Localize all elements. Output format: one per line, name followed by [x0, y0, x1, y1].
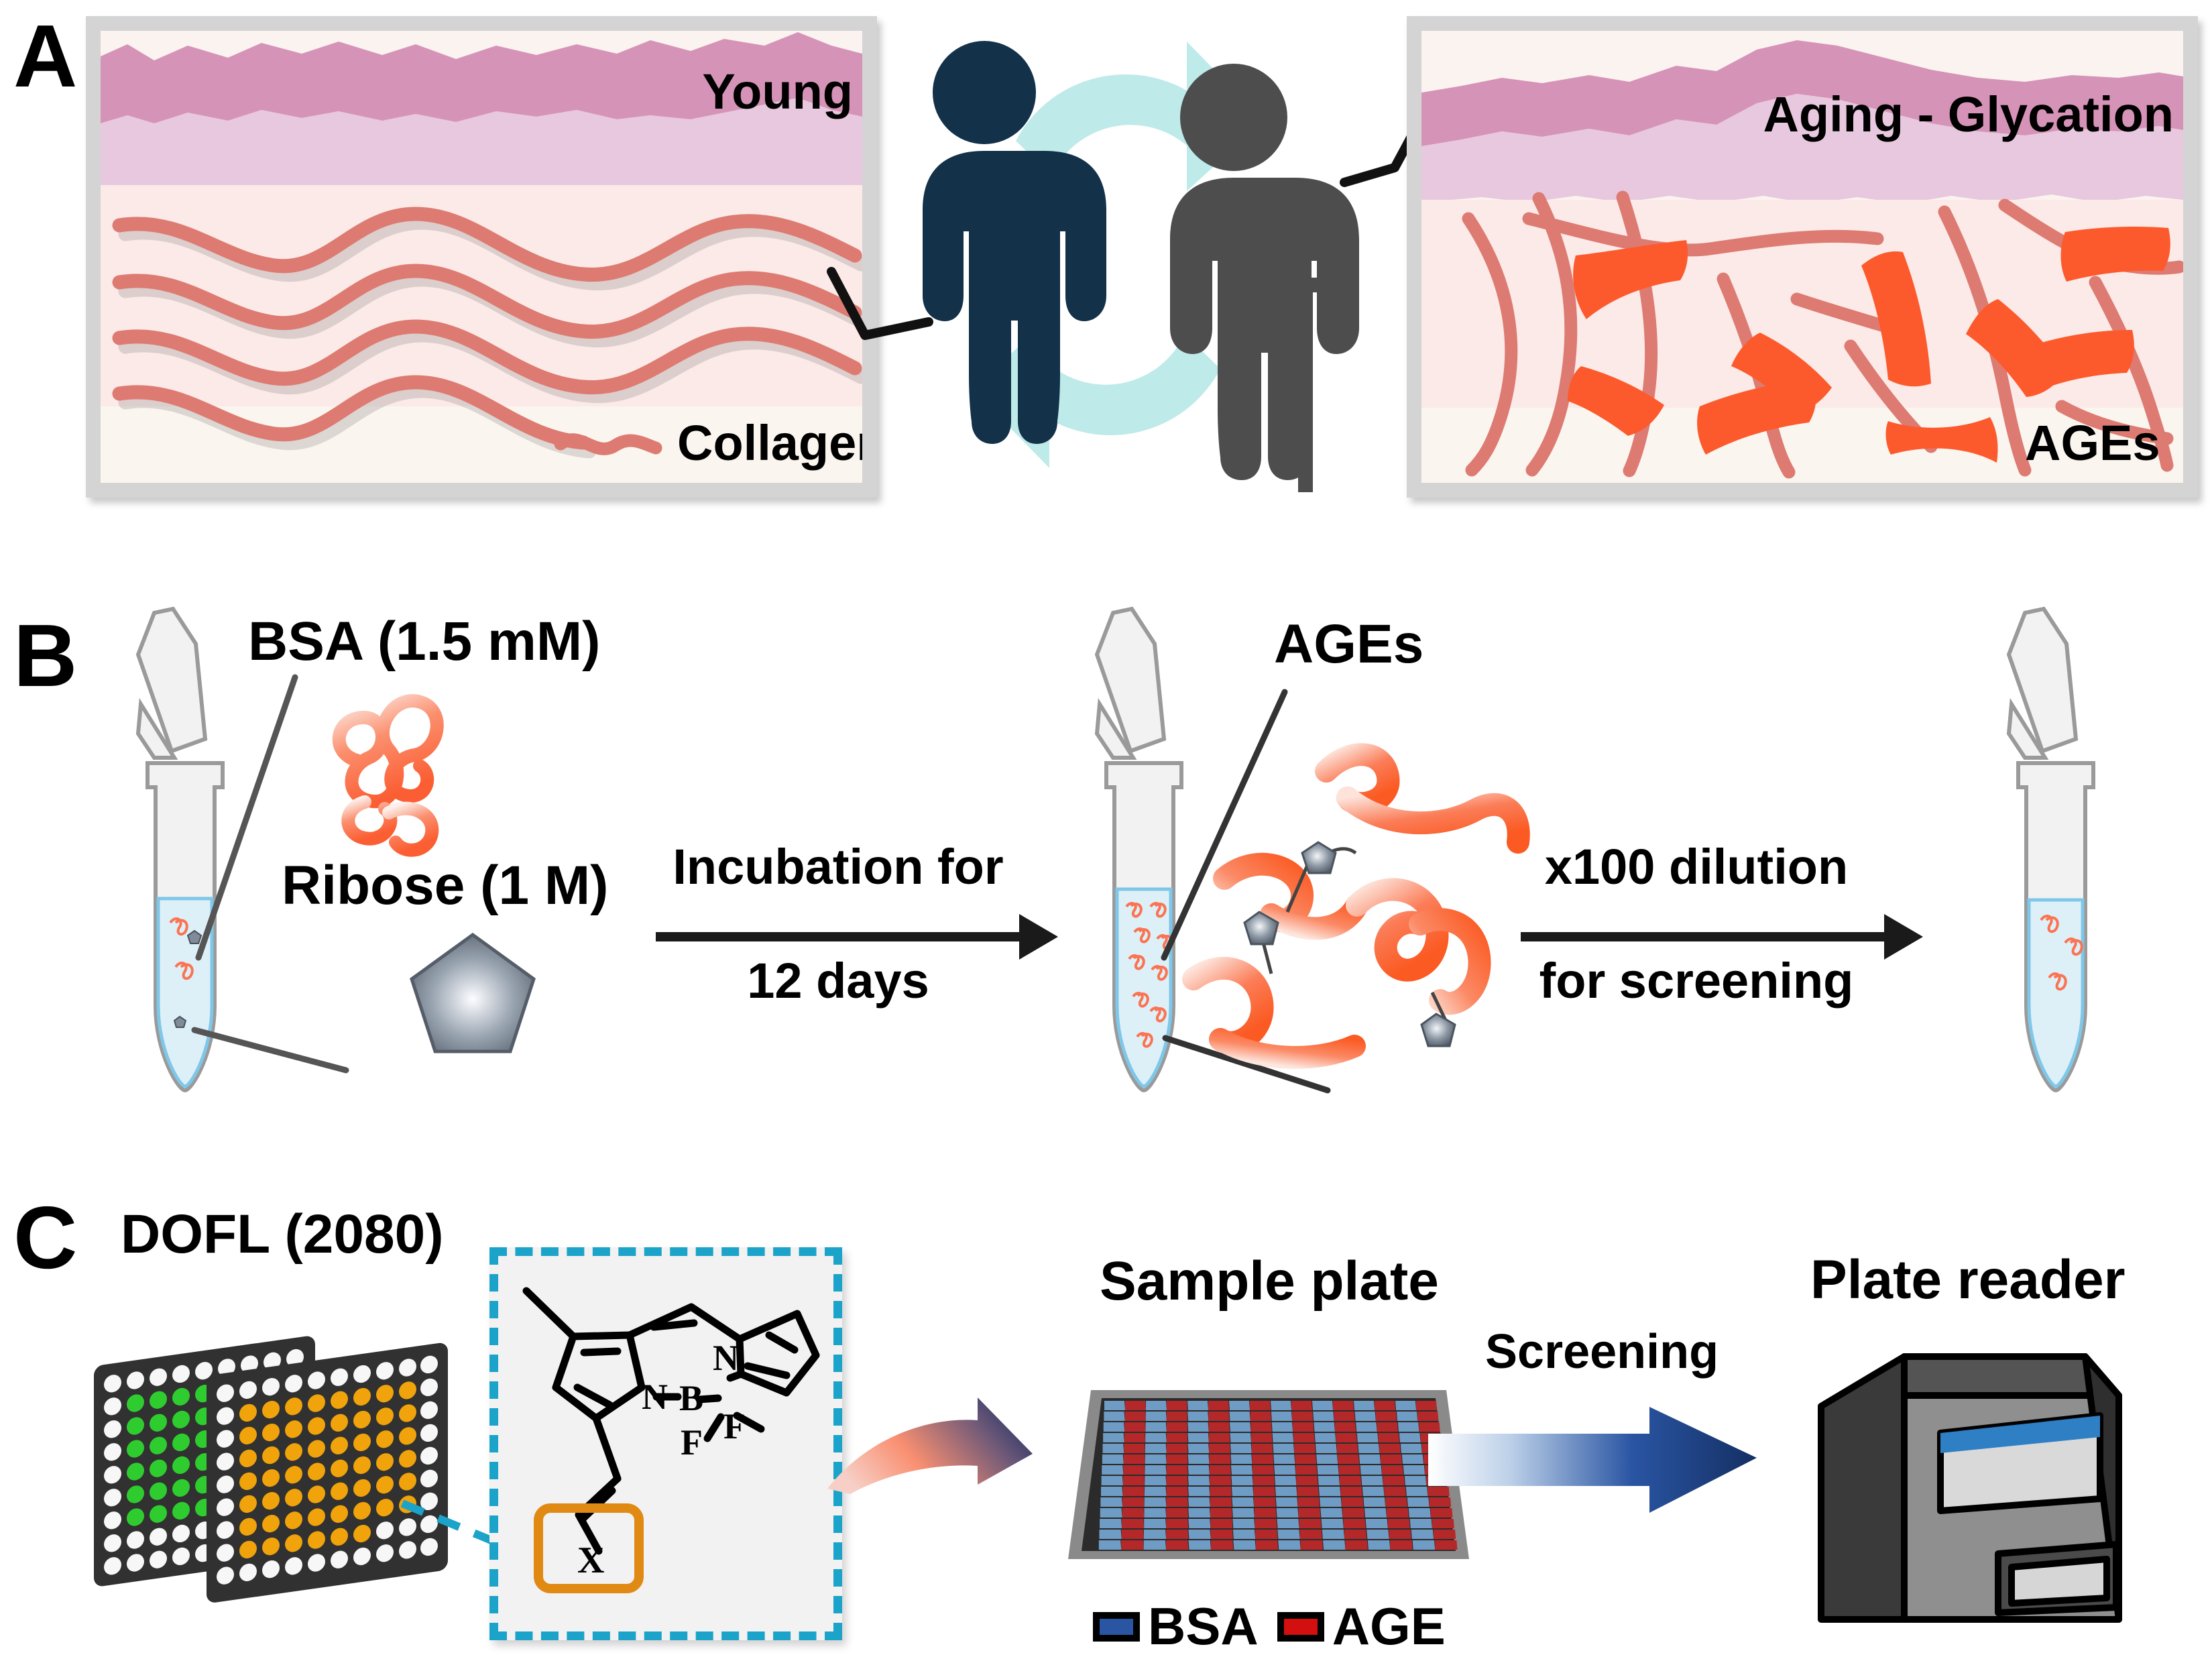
collagen-fibers-icon: [101, 175, 862, 423]
sample-plate-icon: [1063, 1378, 1472, 1579]
structure-callout-box: N B N F F X: [489, 1247, 842, 1640]
atom-label-b: B: [679, 1378, 703, 1418]
sample-plate-label: Sample plate: [1100, 1254, 1439, 1309]
plate-reader-instrument-icon: [1804, 1331, 2166, 1646]
atom-label-f-right: F: [723, 1406, 746, 1446]
ages-product-label: AGEs: [1274, 617, 1423, 672]
incubation-arrow-label-bottom: 12 days: [644, 956, 1033, 1006]
dilution-arrow-label-bottom: for screening: [1509, 956, 1884, 1006]
legend-swatch-age: [1277, 1612, 1324, 1642]
curved-gradient-arrow-icon: [825, 1355, 1093, 1522]
sample-plate-legend: BSAAGE: [1093, 1596, 1464, 1657]
ages-legend-icon: [1884, 410, 2018, 468]
young-pointer-line: [825, 121, 945, 402]
atom-label-f-lower: F: [681, 1422, 703, 1463]
collagen-legend-icon: [554, 424, 668, 464]
screening-label: Screening: [1485, 1328, 1719, 1376]
plate-reader-label: Plate reader: [1810, 1253, 2126, 1308]
diluted-sample-tube-icon: [1944, 597, 2146, 1106]
panel-b-letter: B: [13, 612, 76, 700]
figure-root: A: [0, 0, 2212, 1661]
bsa-reagent-label: BSA (1.5 mM): [248, 614, 600, 669]
gradient-screening-arrow-icon: [1428, 1401, 1790, 1536]
panel-c-letter: C: [13, 1194, 76, 1282]
dilution-arrow-line: [1521, 932, 1886, 941]
variable-group-label: X: [577, 1540, 604, 1581]
dilution-arrow-label-top: x100 dilution: [1509, 842, 1884, 892]
bodipy-chemical-structure-icon: N B N F F X: [498, 1256, 816, 1614]
panel-a-letter: A: [13, 12, 76, 101]
dilution-arrow-head: [1884, 914, 1923, 960]
incubation-arrow-line: [656, 932, 1021, 941]
atom-label-n-right: N: [713, 1338, 739, 1378]
aging-skin-box: Aging - Glycation AGEs: [1407, 16, 2198, 498]
ages-legend-label: AGEs: [2025, 418, 2160, 468]
legend-label-bsa: BSA: [1148, 1597, 1259, 1656]
ribose-reagent-label: Ribose (1 M): [282, 858, 608, 913]
young-box-title: Young: [702, 67, 853, 117]
legend-label-age: AGE: [1332, 1597, 1446, 1656]
atom-label-n-left: N: [642, 1377, 668, 1417]
legend-swatch-bsa: [1093, 1612, 1140, 1642]
young-skin-box: Young Collagen: [86, 16, 877, 498]
aging-cycle-group: [872, 7, 1368, 503]
bsa-protein-coil-icon: [295, 677, 510, 878]
dofl-library-label: DOFL (2080): [121, 1207, 444, 1262]
ribose-pentagon-icon: [402, 925, 543, 1066]
collagen-legend-label: Collagen: [677, 418, 862, 468]
incubation-arrow-label-top: Incubation for: [644, 842, 1033, 892]
aging-box-title: Aging - Glycation: [1763, 90, 2174, 139]
